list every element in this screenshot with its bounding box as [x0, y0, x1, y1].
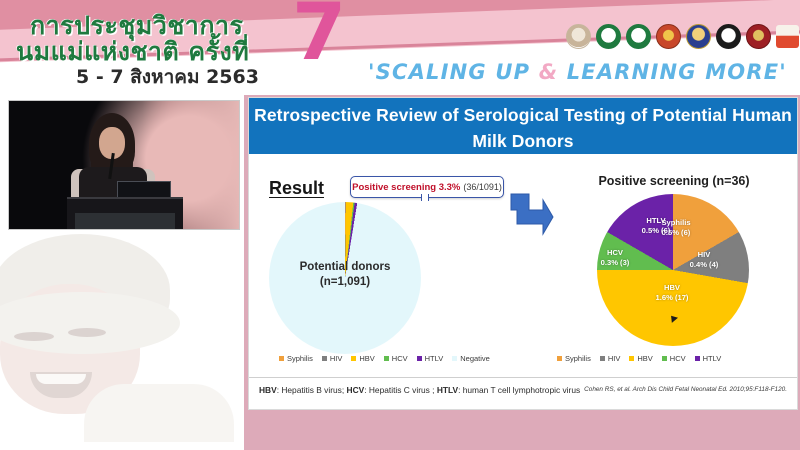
- child-teeth: [36, 374, 86, 384]
- legend-item: HBV: [351, 354, 374, 363]
- logo-green-medical-2: [626, 24, 651, 49]
- child-body: [84, 384, 234, 442]
- legend-item: HCV: [384, 354, 408, 363]
- callout-pointer: [421, 194, 429, 201]
- legend-label-hiv: HIV: [330, 354, 343, 363]
- abbrev-hcv-value: : Hepatitis C virus ;: [364, 385, 437, 395]
- legend-label-htlv: HTLV: [425, 354, 444, 363]
- transition-arrow-icon: [507, 190, 555, 240]
- podium-base: [75, 213, 175, 229]
- legend-swatch-hiv: [322, 356, 327, 361]
- legend-item: HTLV: [695, 354, 722, 363]
- result-heading: Result: [269, 178, 324, 199]
- tagline-ampersand: &: [539, 60, 559, 84]
- chart-positive-screening-title: Positive screening (n=36): [559, 174, 789, 188]
- legend-item: HIV: [322, 354, 343, 363]
- slice-label-hcv-name: HCV: [607, 248, 623, 257]
- slice-label-hbv-name: HBV: [664, 283, 680, 292]
- legend-label-syphilis: Syphilis: [565, 354, 591, 363]
- slice-label-htlv-value: 0.5% (6): [642, 226, 671, 235]
- legend-item: Negative: [452, 354, 490, 363]
- slice-label-hiv: HIV 0.4% (4): [681, 250, 727, 269]
- legend-item: Syphilis: [557, 354, 591, 363]
- abbrev-htlv-value: : human T cell lymphotropic virus: [458, 385, 580, 395]
- legend-swatch-syphilis: [557, 356, 562, 361]
- legend-swatch-hcv: [662, 356, 667, 361]
- legend-swatch-hbv: [351, 356, 356, 361]
- logo-thai-royal-seal: [566, 24, 591, 49]
- child-hat-brim: [0, 292, 180, 354]
- slice-label-htlv: HTLV 0.5% (6): [633, 216, 679, 235]
- conference-date: 5 - 7 สิงหาคม 2563: [76, 62, 259, 92]
- slice-label-hcv-value: 0.3% (3): [601, 258, 630, 267]
- sponsor-logos: [566, 24, 799, 49]
- legend-label-htlv: HTLV: [703, 354, 722, 363]
- abbrev-hbv-key: HBV: [259, 385, 277, 395]
- logo-green-medical-1: [596, 24, 621, 49]
- abbreviation-key: HBV: Hepatitis B virus; HCV: Hepatitis C…: [259, 385, 580, 395]
- slice-label-hbv-value: 1.6% (17): [656, 293, 689, 302]
- logo-red-crest: [746, 24, 771, 49]
- legend-item: Syphilis: [279, 354, 313, 363]
- abbrev-hcv-key: HCV: [347, 385, 365, 395]
- slice-label-hcv: HCV 0.3% (3): [593, 248, 637, 267]
- legend-label-hcv: HCV: [670, 354, 686, 363]
- legend-swatch-htlv: [695, 356, 700, 361]
- tagline-part1: 'SCALING UP: [368, 60, 539, 84]
- conference-tagline: 'SCALING UP & LEARNING MORE': [368, 60, 787, 84]
- legend-swatch-negative: [452, 356, 457, 361]
- conference-edition-number: 7: [292, 0, 346, 72]
- source-citation: Cohen RS, et al. Arch Dis Child Fetal Ne…: [584, 385, 787, 393]
- legend-item: HCV: [662, 354, 686, 363]
- legend-swatch-htlv: [417, 356, 422, 361]
- child-eye-right: [68, 328, 106, 337]
- legend-label-syphilis: Syphilis: [287, 354, 313, 363]
- legend-swatch-syphilis: [279, 356, 284, 361]
- legend-label-hiv: HIV: [608, 354, 621, 363]
- conference-banner: การประชุมวิชาการ นมแม่แห่งชาติ ครั้งที่ …: [0, 0, 800, 95]
- slice-label-hiv-value: 0.4% (4): [690, 260, 719, 269]
- legend-item: HTLV: [417, 354, 444, 363]
- pie-left-title: Potential donors: [269, 260, 421, 275]
- legend-label-hcv: HCV: [392, 354, 408, 363]
- child-eye-left: [14, 332, 54, 341]
- screenshot-stage: การประชุมวิชาการ นมแม่แห่งชาติ ครั้งที่ …: [0, 0, 800, 450]
- legend-potential-donors: Syphilis HIV HBV HCV HTLV Negative: [279, 354, 490, 363]
- background-child-photo: [0, 232, 248, 442]
- abbrev-htlv-key: HTLV: [437, 385, 458, 395]
- legend-label-hbv: HBV: [359, 354, 374, 363]
- pie-left-subtitle: (n=1,091): [269, 275, 421, 290]
- legend-swatch-hbv: [629, 356, 634, 361]
- logo-ministry-public-health: [716, 24, 741, 49]
- slice-label-htlv-name: HTLV: [646, 216, 665, 225]
- slice-label-hiv-name: HIV: [698, 250, 711, 259]
- legend-label-hbv: HBV: [637, 354, 652, 363]
- slice-label-hbv: HBV 1.6% (17): [641, 283, 703, 302]
- legend-swatch-hcv: [384, 356, 389, 361]
- legend-positive-screening: Syphilis HIV HBV HCV HTLV: [557, 354, 721, 363]
- logo-orange-crest: [656, 24, 681, 49]
- legend-swatch-hiv: [600, 356, 605, 361]
- callout-detail: (36/1091): [463, 182, 502, 192]
- logo-royal-crest: [686, 24, 711, 49]
- slide-title: Retrospective Review of Serological Test…: [249, 98, 797, 154]
- logo-thaihealth-sss: [776, 25, 799, 48]
- legend-item: HIV: [600, 354, 621, 363]
- presentation-slide[interactable]: Retrospective Review of Serological Test…: [248, 97, 798, 410]
- legend-label-negative: Negative: [460, 354, 490, 363]
- abbrev-hbv-value: : Hepatitis B virus;: [277, 385, 347, 395]
- callout-highlight: Positive screening 3.3%: [352, 182, 460, 193]
- presenter-video-feed[interactable]: [8, 100, 240, 230]
- pie-left-center-label: Potential donors (n=1,091): [269, 260, 421, 290]
- slide-footnote: HBV: Hepatitis B virus; HCV: Hepatitis C…: [249, 377, 797, 409]
- tagline-part2: LEARNING MORE': [558, 60, 787, 84]
- legend-item: HBV: [629, 354, 652, 363]
